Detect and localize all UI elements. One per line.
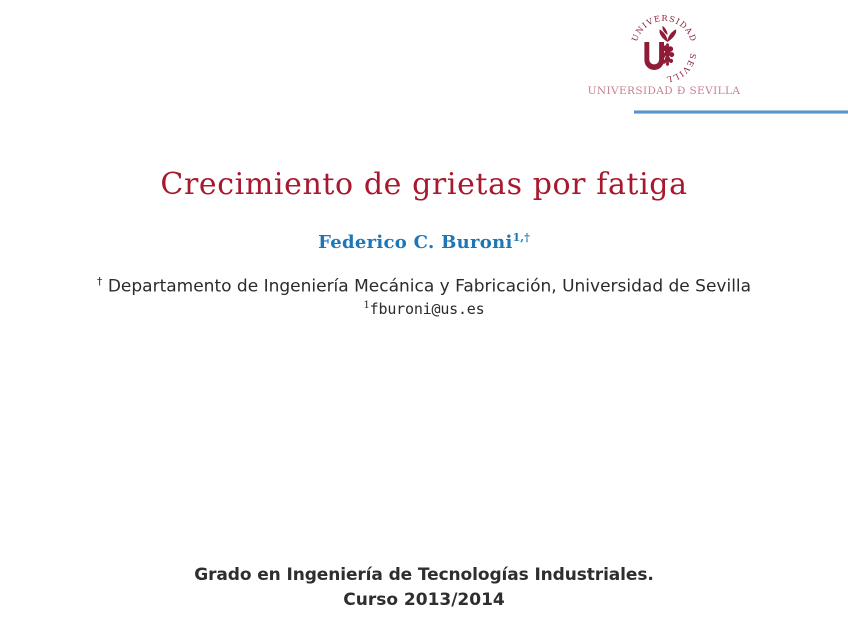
course-block: Grado en Ingeniería de Tecnologías Indus… [0, 563, 848, 612]
slide-header: UNIVERSIDAD DE SEVILLA [0, 0, 848, 125]
affiliation-text: Departamento de Ingeniería Mecánica y Fa… [108, 276, 751, 296]
title-block: Crecimiento de grietas por fatiga Federi… [0, 168, 848, 318]
header-divider-rule [634, 110, 848, 114]
email-address: fburoni@us.es [370, 300, 485, 318]
university-wordmark: UNIVERSIDAD Ð SEVILLA [583, 85, 745, 97]
author-name: Federico C. Buroni [318, 232, 513, 253]
page-title: Crecimiento de grietas por fatiga [0, 168, 848, 203]
course-program: Grado en Ingeniería de Tecnologías Indus… [0, 563, 848, 588]
email-line: 1fburoni@us.es [0, 300, 848, 318]
university-logo: UNIVERSIDAD DE SEVILLA [583, 14, 745, 97]
affiliation-dagger-marker: † [97, 275, 103, 288]
university-seal-icon: UNIVERSIDAD DE SEVILLA [629, 14, 699, 84]
author-line: Federico C. Buroni1,† [0, 231, 848, 253]
course-year: Curso 2013/2014 [0, 588, 848, 613]
affiliation-line: † Departamento de Ingeniería Mecánica y … [0, 275, 848, 298]
author-superscript: 1,† [513, 231, 530, 244]
